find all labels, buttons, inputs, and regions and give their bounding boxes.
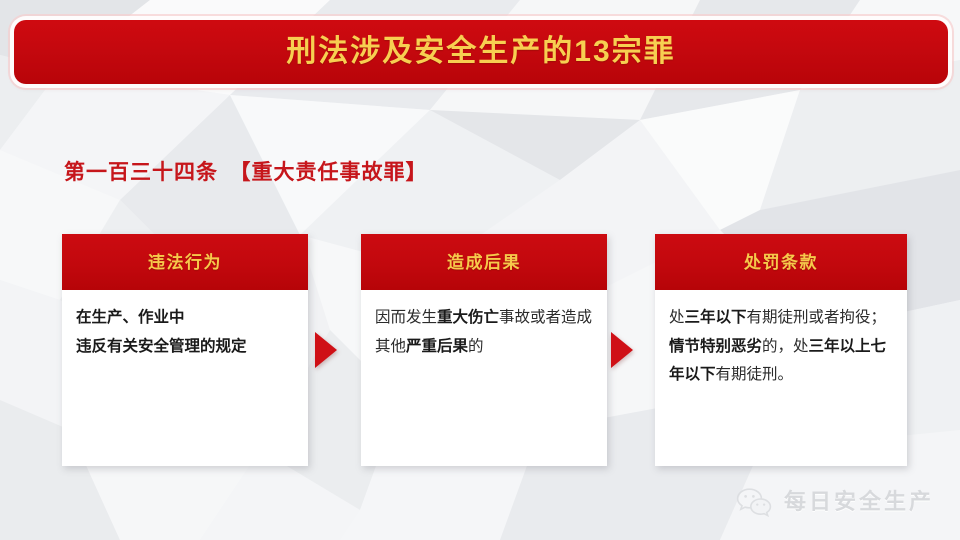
slide-root: 刑法涉及安全生产的13宗罪 第一百三十四条 【重大责任事故罪】 违法行为 在生产… [0,0,960,540]
card-consequence-seg-2: 重大伤亡 [437,309,499,326]
card-consequence-seg-5: 的 [468,338,484,355]
card-penalty-seg-4: 情节特别恶劣 [669,338,762,355]
card-violation-line-1: 在生产、作业中 [76,304,294,333]
card-consequence-line-1: 因而发生重大伤亡事故或者造成其他严重后果的 [375,304,593,361]
arrow-card2-to-card3-icon [611,332,633,368]
card-violation-line-2: 违反有关安全管理的规定 [76,333,294,362]
card-violation: 违法行为 在生产、作业中 违反有关安全管理的规定 [62,234,308,466]
card-penalty-body: 处三年以下有期徒刑或者拘役； 情节特别恶劣的，处三年以上七年以下有期徒刑。 [655,290,907,390]
card-row: 违法行为 在生产、作业中 违反有关安全管理的规定 造成后果 因而发生重大伤亡事故… [62,234,907,466]
card-violation-line-2-text: 违反有关安全管理的规定 [76,338,247,355]
page-title: 刑法涉及安全生产的13宗罪 [286,37,675,67]
card-penalty-seg-5: 的，处 [762,338,809,355]
card-penalty: 处罚条款 处三年以下有期徒刑或者拘役； 情节特别恶劣的，处三年以上七年以下有期徒… [655,234,907,466]
card-consequence-header: 造成后果 [361,234,607,290]
watermark-label: 每日安全生产 [784,491,934,513]
card-consequence-seg-1: 因而发生 [375,309,437,326]
card-violation-header-label: 违法行为 [148,254,222,271]
card-penalty-header: 处罚条款 [655,234,907,290]
card-penalty-seg-3: 有期徒刑或者拘役； [747,309,887,326]
card-penalty-seg-2: 三年以下 [685,309,747,326]
card-consequence-seg-4: 严重后果 [406,338,468,355]
card-violation-body: 在生产、作业中 违反有关安全管理的规定 [62,290,308,361]
article-heading: 第一百三十四条 【重大责任事故罪】 [64,160,428,185]
card-penalty-header-label: 处罚条款 [744,254,818,271]
card-penalty-line-1: 处三年以下有期徒刑或者拘役； [669,304,893,333]
card-violation-line-1-text: 在生产、作业中 [76,309,185,326]
card-consequence: 造成后果 因而发生重大伤亡事故或者造成其他严重后果的 [361,234,607,466]
watermark: 每日安全生产 [734,486,934,518]
card-penalty-seg-7: 有期徒刑。 [716,366,794,383]
card-penalty-line-2: 情节特别恶劣的，处三年以上七年以下有期徒刑。 [669,333,893,390]
wechat-icon [734,486,774,518]
arrow-card1-to-card2-icon [315,332,337,368]
card-violation-header: 违法行为 [62,234,308,290]
card-consequence-header-label: 造成后果 [447,254,521,271]
card-penalty-seg-1: 处 [669,309,685,326]
title-banner: 刑法涉及安全生产的13宗罪 [14,20,948,84]
card-consequence-body: 因而发生重大伤亡事故或者造成其他严重后果的 [361,290,607,361]
